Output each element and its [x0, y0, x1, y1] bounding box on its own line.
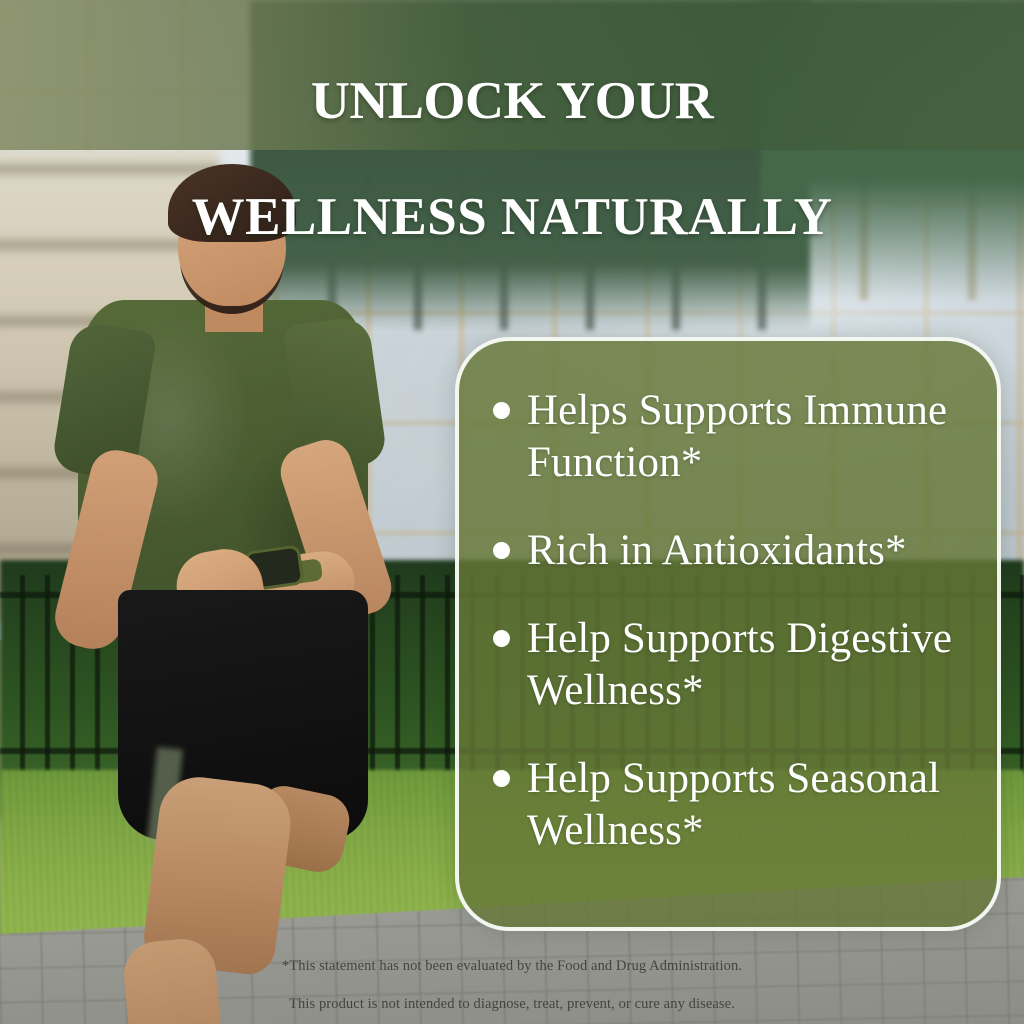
headline-line-2: WELLNESS NATURALLY — [0, 188, 1024, 246]
bullet-dot-icon — [493, 770, 510, 787]
list-item: Helps Supports Immune Function* — [493, 385, 971, 489]
page-title: UNLOCK YOUR WELLNESS NATURALLY — [0, 14, 1024, 304]
list-item: Help Supports Seasonal Wellness* — [493, 753, 971, 857]
benefit-text: Help Supports Seasonal Wellness* — [527, 753, 967, 857]
list-item: Rich in Antioxidants* — [493, 525, 971, 577]
wellness-supplement-banner: UNLOCK YOUR WELLNESS NATURALLY Helps Sup… — [0, 0, 1024, 1024]
benefit-text: Rich in Antioxidants* — [527, 525, 907, 577]
benefits-panel: Helps Supports Immune Function* Rich in … — [455, 337, 1001, 931]
disclaimer-line-1: *This statement has not been evaluated b… — [282, 958, 742, 974]
list-item: Help Supports Digestive Wellness* — [493, 613, 971, 717]
benefit-text: Help Supports Digestive Wellness* — [527, 613, 967, 717]
fda-disclaimer: *This statement has not been evaluated b… — [0, 938, 1024, 1014]
bullet-dot-icon — [493, 402, 510, 419]
disclaimer-line-2: This product is not intended to diagnose… — [289, 996, 735, 1012]
headline-line-1: UNLOCK YOUR — [0, 72, 1024, 130]
bullet-dot-icon — [493, 630, 510, 647]
benefits-list: Helps Supports Immune Function* Rich in … — [493, 385, 971, 857]
benefit-text: Helps Supports Immune Function* — [527, 385, 967, 489]
bullet-dot-icon — [493, 542, 510, 559]
